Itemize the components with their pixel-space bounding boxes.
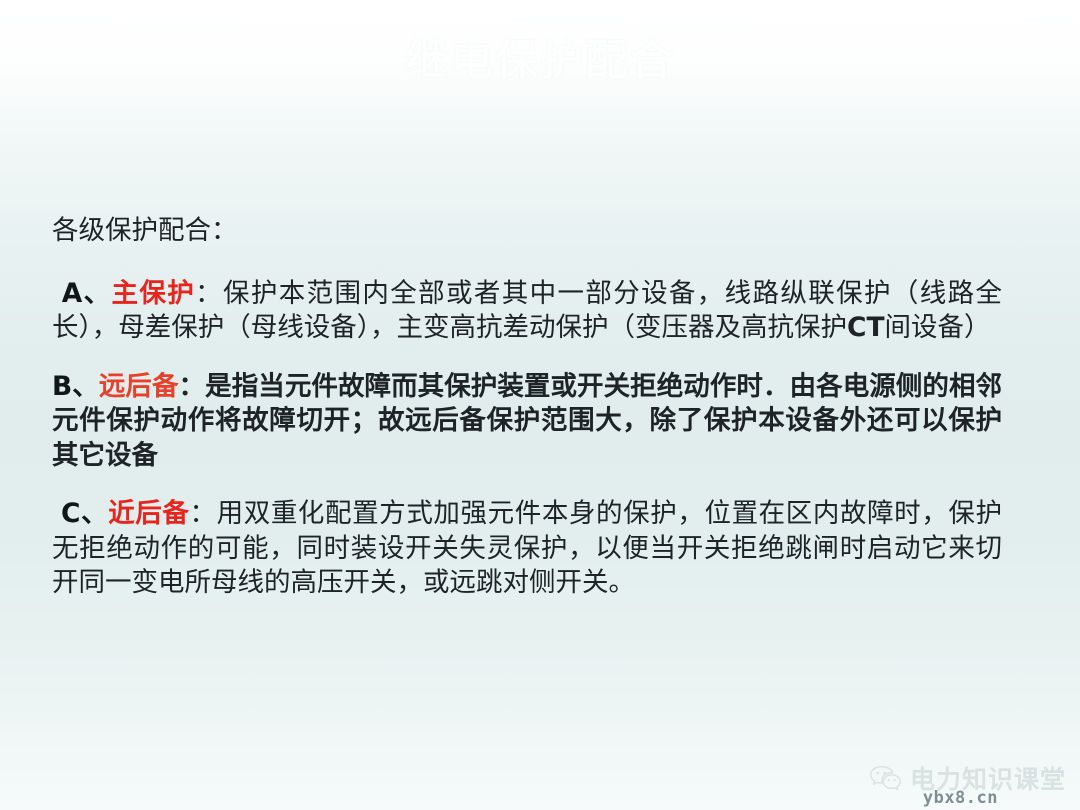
item-colon-c: ： bbox=[190, 498, 217, 529]
page-title: 继电保护配合 bbox=[0, 26, 1080, 88]
item-paragraph-b: B、远后备：是指当元件故障而其保护装置或开关拒绝动作时．由各电源侧的相邻元件保护… bbox=[52, 370, 1002, 474]
item-paragraph-a: A、主保护：保护本范围内全部或者其中一部分设备，线路纵联保护（线路全长），母差保… bbox=[52, 277, 1002, 346]
wechat-icon bbox=[868, 761, 902, 795]
watermark-url: ybx8.cn bbox=[923, 788, 998, 808]
item-marker-a: A、 bbox=[62, 278, 112, 309]
item-colon-b: ： bbox=[179, 371, 206, 402]
item-body-a-part2: 间设备） bbox=[885, 312, 991, 343]
item-marker-b: B、 bbox=[52, 371, 99, 402]
item-marker-c: C、 bbox=[61, 498, 108, 529]
item-body-a-ct: CT bbox=[847, 312, 885, 343]
item-term-c: 近后备 bbox=[108, 498, 189, 529]
item-colon-a: ： bbox=[195, 278, 223, 309]
slide-canvas: 继电保护配合 各级保护配合： A、主保护：保护本范围内全部或者其中一部分设备，线… bbox=[0, 0, 1080, 810]
item-paragraph-c: C、近后备：用双重化配置方式加强元件本身的保护，位置在区内故障时，保护无拒绝动作… bbox=[52, 497, 1002, 601]
lead-paragraph: 各级保护配合： bbox=[52, 214, 1002, 249]
item-term-b: 远后备 bbox=[99, 371, 179, 402]
slide-body: 各级保护配合： A、主保护：保护本范围内全部或者其中一部分设备，线路纵联保护（线… bbox=[52, 214, 1002, 601]
item-term-a: 主保护 bbox=[112, 278, 196, 309]
